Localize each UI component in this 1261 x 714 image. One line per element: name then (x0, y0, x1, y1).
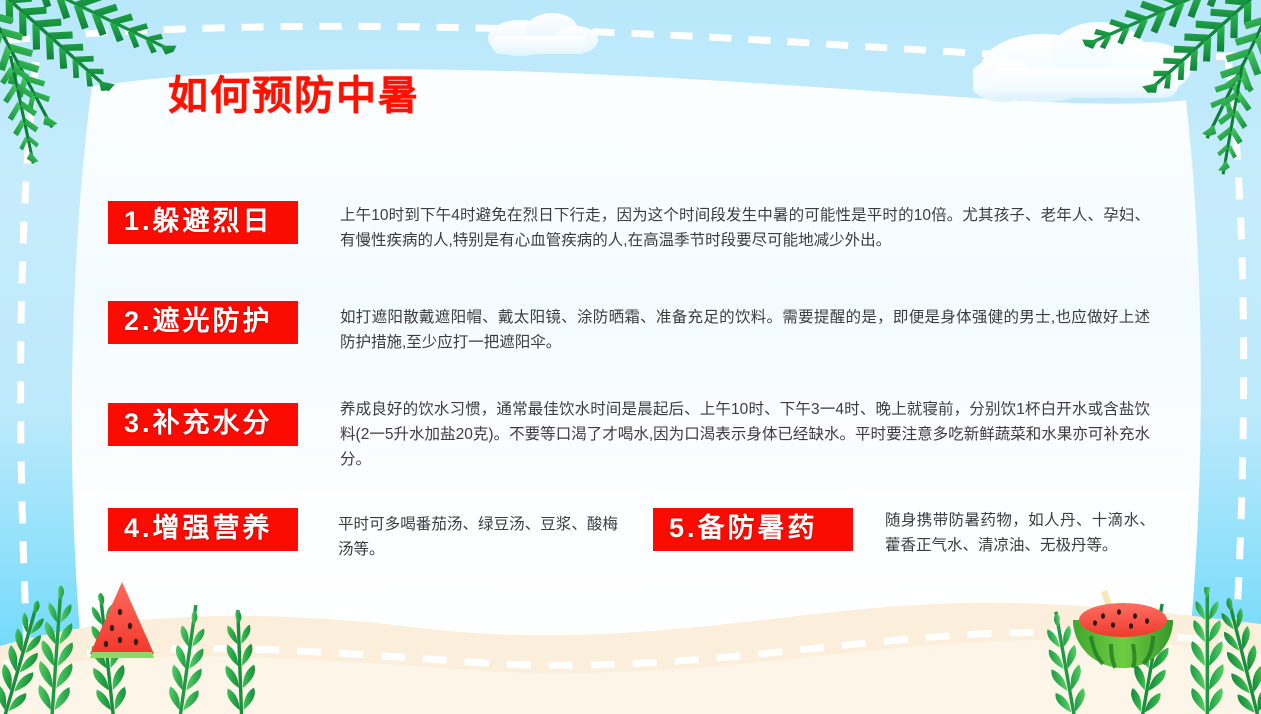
slide-canvas: 如何预防中暑 1.躲避烈日 上午10时到下午4时避免在烈日下行走，因为这个时间段… (0, 0, 1261, 714)
section-text-5: 随身携带防暑药物，如人丹、十滴水、藿香正气水、清凉油、无极丹等。 (885, 508, 1155, 558)
section-tag-4: 4.增强营养 (108, 508, 298, 551)
section-text-4: 平时可多喝番茄汤、绿豆汤、豆浆、酸梅汤等。 (338, 512, 618, 562)
page-title: 如何预防中暑 (168, 63, 420, 121)
section-tag-1: 1.躲避烈日 (108, 201, 298, 244)
section-tag-5: 5.备防暑药 (653, 508, 853, 551)
section-row-2: 2.遮光防护 如打遮阳散戴遮阳帽、戴太阳镜、涂防晒霜、准备充足的饮料。需要提醒的… (108, 301, 1158, 355)
section-tag-3: 3.补充水分 (108, 403, 298, 446)
section-row-1: 1.躲避烈日 上午10时到下午4时避免在烈日下行走，因为这个时间段发生中暑的可能… (108, 201, 1158, 253)
slide-content: 如何预防中暑 1.躲避烈日 上午10时到下午4时避免在烈日下行走，因为这个时间段… (0, 0, 1261, 714)
section-tag-2: 2.遮光防护 (108, 301, 298, 344)
section-row-3: 3.补充水分 养成良好的饮水习惯，通常最佳饮水时间是晨起后、上午10时、下午3一… (108, 403, 1158, 472)
section-text-2: 如打遮阳散戴遮阳帽、戴太阳镜、涂防晒霜、准备充足的饮料。需要提醒的是，即便是身体… (340, 305, 1150, 355)
section-text-3: 养成良好的饮水习惯，通常最佳饮水时间是晨起后、上午10时、下午3一4时、晚上就寝… (340, 397, 1150, 472)
section-row-4: 4.增强营养 平时可多喝番茄汤、绿豆汤、豆浆、酸梅汤等。 (108, 508, 628, 562)
section-row-5: 5.备防暑药 随身携带防暑药物，如人丹、十滴水、藿香正气水、清凉油、无极丹等。 (653, 508, 1163, 558)
section-text-1: 上午10时到下午4时避免在烈日下行走，因为这个时间段发生中暑的可能性是平时的10… (340, 203, 1150, 253)
